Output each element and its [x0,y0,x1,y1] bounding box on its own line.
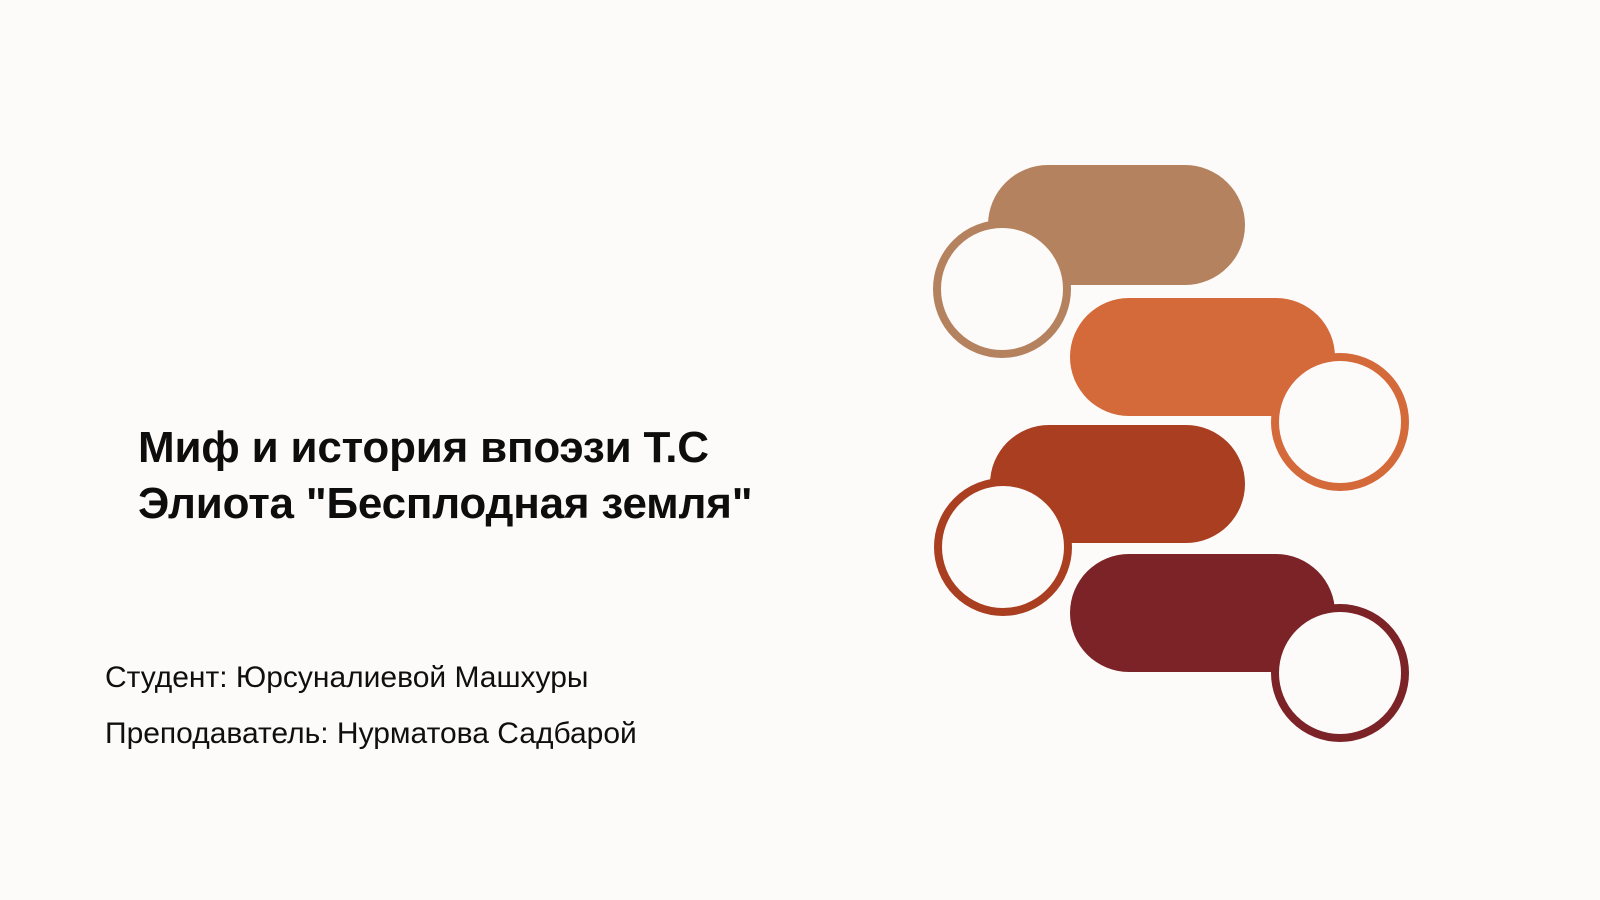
pill-ring-graphic [880,130,1440,770]
decorative-artwork [880,130,1440,770]
pill-shape-4 [1070,554,1335,672]
student-line: Студент: Юрсуналиевой Машхуры [105,663,825,693]
pill-shape-2 [1070,298,1335,416]
ring-shape-2 [1275,357,1405,487]
pill-ring-group-4 [1070,554,1405,738]
ring-shape-4 [1275,608,1405,738]
presentation-title-slide: Миф и история впоэзи Т.С Элиота "Бесплод… [0,0,1600,900]
teacher-line: Преподаватель: Нурматова Садбарой [105,719,825,749]
credits-block: Студент: Юрсуналиевой Машхуры Преподават… [105,663,825,749]
title-text-area: Миф и история впоэзи Т.С Элиота "Бесплод… [0,0,860,900]
page-title: Миф и история впоэзи Т.С Элиота "Бесплод… [138,420,838,533]
